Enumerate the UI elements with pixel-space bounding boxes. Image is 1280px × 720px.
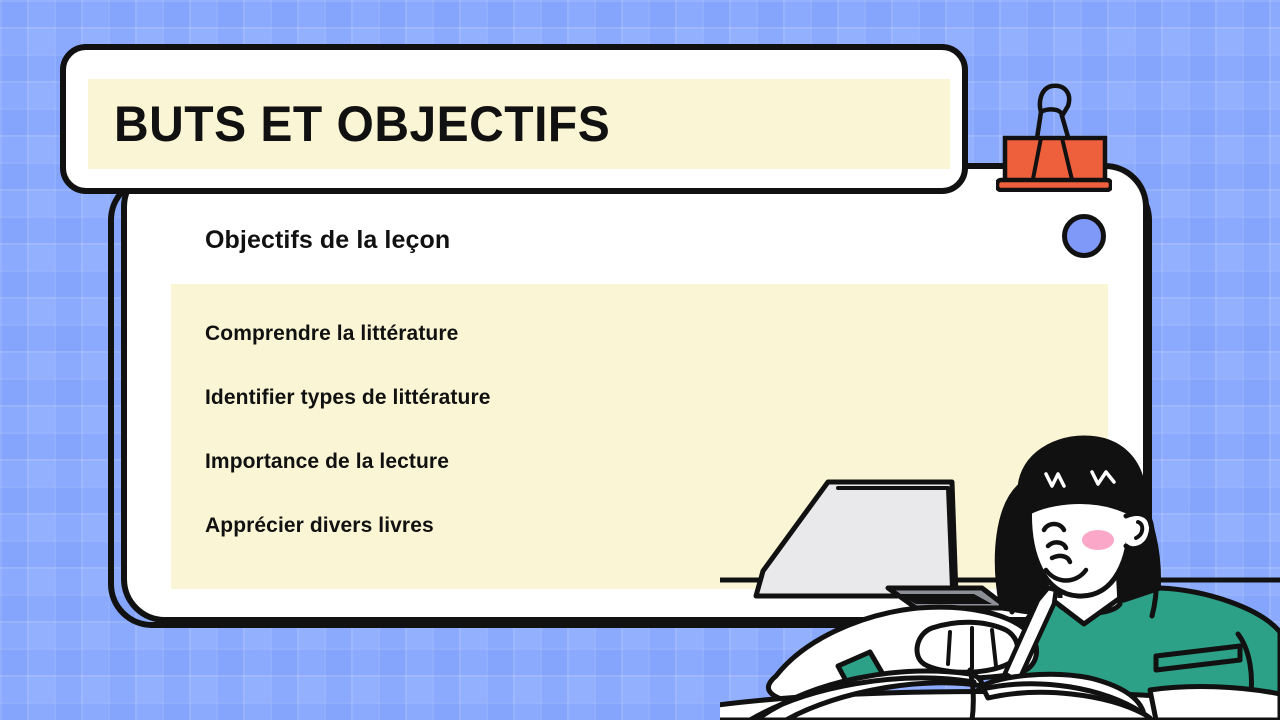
list-item: Identifier types de littérature [205,386,1065,410]
body-card: Objectifs de la leçon Comprendre la litt… [121,163,1149,623]
blue-dot-icon [1062,214,1106,258]
page-title: BUTS ET OBJECTIFS [114,95,610,153]
lesson-objectives-heading: Objectifs de la leçon [205,226,450,255]
objectives-panel: Comprendre la littérature Identifier typ… [171,284,1108,589]
list-item: Importance de la lecture [205,450,1065,474]
binder-clip-icon [996,66,1112,192]
list-item: Apprécier divers livres [205,514,1065,538]
slide-canvas: Objectifs de la leçon Comprendre la litt… [0,0,1280,720]
objectives-list: Comprendre la littérature Identifier typ… [205,322,1065,538]
title-highlight-band: BUTS ET OBJECTIFS [88,79,950,169]
title-card: BUTS ET OBJECTIFS [60,44,968,194]
list-item: Comprendre la littérature [205,322,1065,346]
